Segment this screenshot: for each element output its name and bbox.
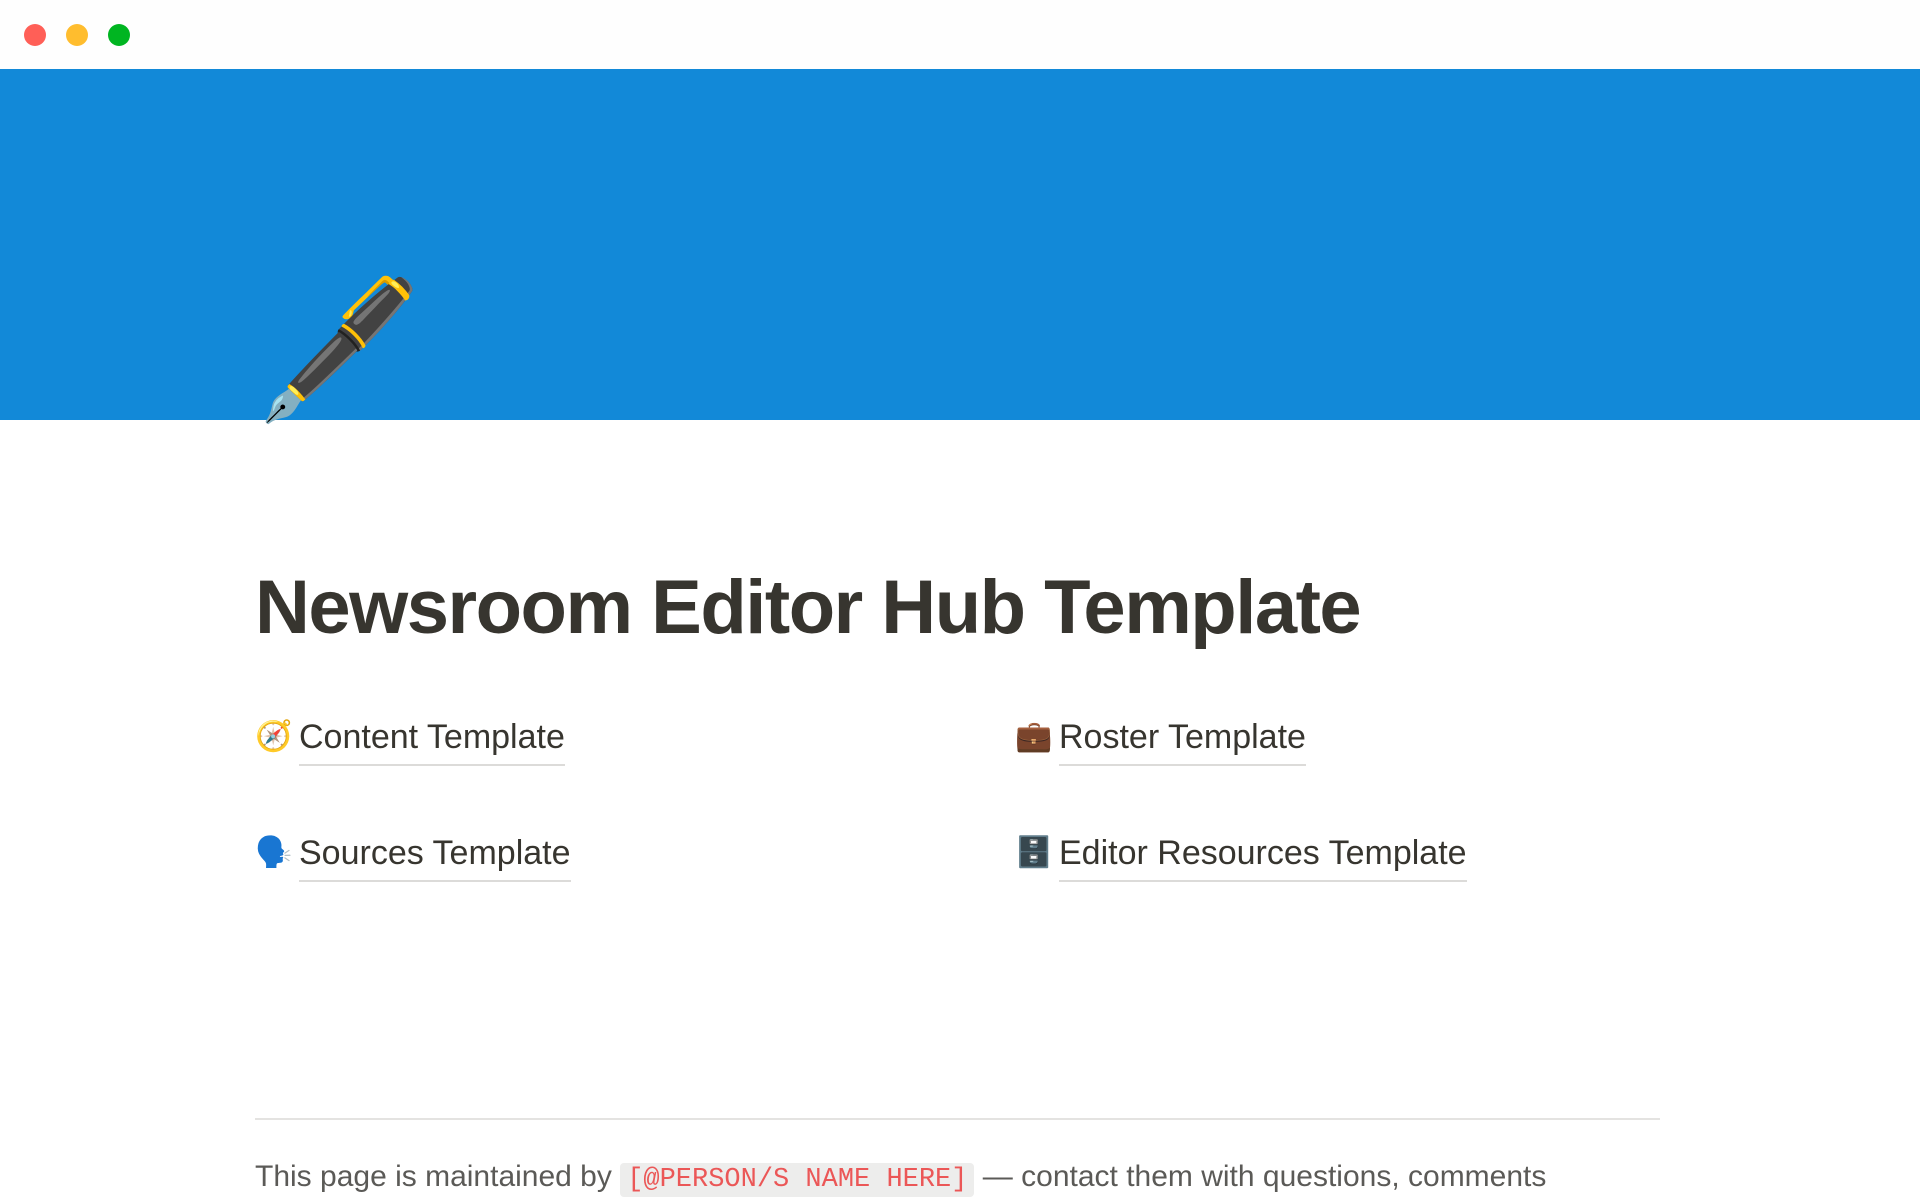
footer-text-before: This page is maintained by (255, 1160, 620, 1193)
minimize-window-button[interactable] (66, 24, 88, 46)
briefcase-emoji: 💼 (1015, 715, 1059, 759)
file-cabinet-emoji: 🗄️ (1015, 831, 1059, 875)
footer-code-placeholder[interactable]: [@PERSON/S NAME HERE] (620, 1163, 974, 1197)
footer-paragraph: This page is maintained by [@PERSON/S NA… (255, 1155, 1675, 1202)
window-title-bar (0, 0, 1920, 69)
close-window-button[interactable] (24, 24, 46, 46)
page-title: Newsroom Editor Hub Template (255, 570, 1360, 646)
page-link-roster-template[interactable]: 💼 Roster Template (1015, 715, 1775, 831)
page-link-editor-resources-template[interactable]: 🗄️ Editor Resources Template (1015, 831, 1775, 947)
page-link-content-template[interactable]: 🧭 Content Template (255, 715, 1015, 831)
page-link-label[interactable]: Content Template (299, 715, 565, 766)
page-link-label[interactable]: Sources Template (299, 831, 571, 882)
horizontal-divider (255, 1118, 1660, 1120)
page-icon-fountain-pen-emoji[interactable]: 🖋️ (255, 270, 415, 430)
page-link-label[interactable]: Editor Resources Template (1059, 831, 1467, 882)
page-link-grid: 🧭 Content Template 💼 Roster Template 🗣️ … (255, 715, 1655, 947)
speaking-head-emoji: 🗣️ (255, 831, 299, 875)
compass-emoji: 🧭 (255, 715, 299, 759)
traffic-lights (24, 24, 130, 46)
page-link-label[interactable]: Roster Template (1059, 715, 1306, 766)
footer-text-after: — contact them with questions, comments (974, 1160, 1546, 1193)
page-link-sources-template[interactable]: 🗣️ Sources Template (255, 831, 1015, 947)
maximize-window-button[interactable] (108, 24, 130, 46)
